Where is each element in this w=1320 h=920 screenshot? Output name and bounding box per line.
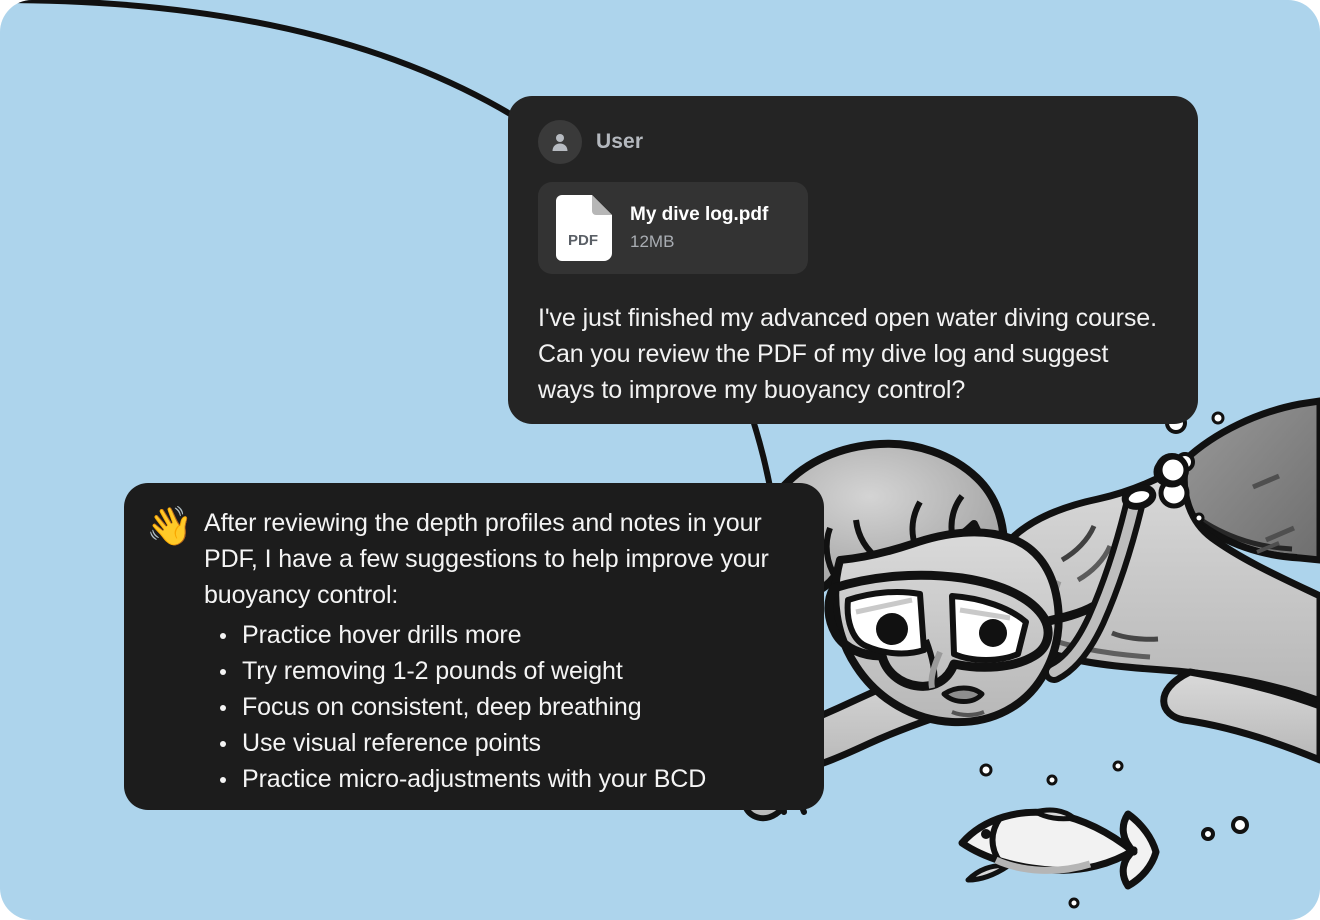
hair-strand-3 [913, 502, 920, 548]
dive-mask [829, 575, 1048, 686]
water-motion-1 [1062, 526, 1094, 560]
user-author-label: User [596, 130, 643, 154]
bubble-snorkel-1 [1159, 459, 1185, 485]
wetsuit-seam [1196, 521, 1297, 557]
assistant-suggestion-list: Practice hover drills moreTry removing 1… [204, 617, 798, 797]
diver-eye-left [876, 613, 908, 645]
chin-line [952, 712, 984, 715]
user-message-text: I've just finished my advanced open wate… [538, 300, 1168, 408]
fish-fin-bottom [968, 866, 1008, 880]
suggestion-item: Use visual reference points [204, 725, 798, 761]
user-header: User [538, 118, 1168, 166]
diver-right-arm [1164, 672, 1320, 760]
assistant-body: 👋 After reviewing the depth profiles and… [146, 505, 798, 797]
bubble-head-1 [1159, 458, 1185, 484]
bubble-near-face-1 [981, 765, 991, 775]
diver-face [835, 532, 1058, 722]
mask-lens-right [952, 596, 1026, 660]
suggestion-item: Try removing 1-2 pounds of weight [204, 653, 798, 689]
collarbone-line [1030, 631, 1150, 657]
pdf-attachment-card[interactable]: PDF My dive log.pdf 12MB [538, 182, 808, 274]
bubble-top [1156, 460, 1180, 484]
bubble-right-low-3 [1070, 899, 1078, 907]
assistant-message-bubble: 👋 After reviewing the depth profiles and… [124, 483, 824, 810]
user-message-bubble: User PDF My dive log.pdf 12MB I've just … [508, 96, 1198, 424]
hair-strand-2 [856, 520, 880, 560]
svg-text:PDF: PDF [568, 232, 598, 249]
bubble-large-3 [1168, 468, 1178, 478]
file-size: 12MB [630, 232, 768, 252]
snorkel-tube-fill [1054, 497, 1136, 672]
armpit-crease [1112, 633, 1158, 639]
file-name: My dive log.pdf [630, 204, 768, 226]
neck-shade [1006, 550, 1060, 586]
bubble-near-face-2 [1048, 776, 1056, 784]
snorkel-opening [1123, 485, 1155, 509]
waving-hand-emoji: 👋 [146, 505, 190, 797]
fish-eye [981, 829, 991, 839]
wetsuit-texture-3 [1257, 543, 1279, 552]
person-avatar-icon [538, 120, 582, 164]
mask-strap [1044, 606, 1094, 622]
diver-mouth [944, 688, 982, 702]
mask-lens-right-glare [960, 610, 1010, 618]
bubble-small-2 [1195, 514, 1203, 522]
water-motion-2 [1078, 546, 1110, 580]
wetsuit-texture-1 [1253, 476, 1279, 487]
bubble-right-low-2 [1233, 818, 1247, 832]
bubble-rise-1 [1160, 457, 1186, 483]
bubble-large-4 [1158, 456, 1186, 484]
bubble-mid-2 [1213, 413, 1223, 423]
fish-head-line [993, 818, 1001, 862]
hair-tuft-1 [986, 526, 1002, 572]
bubble-right-low-1 [1203, 829, 1213, 839]
suggestion-item: Practice hover drills more [204, 617, 798, 653]
assistant-intro-text: After reviewing the depth profiles and n… [204, 505, 798, 613]
hair-strand-4 [951, 496, 962, 534]
page-root: User PDF My dive log.pdf 12MB I've just … [0, 0, 1320, 920]
fish-body [962, 812, 1156, 886]
wetsuit-texture-2 [1266, 528, 1294, 540]
air-bubbles-group [981, 369, 1247, 907]
suggestion-item: Practice micro-adjustments with your BCD [204, 761, 798, 797]
file-meta: My dive log.pdf 12MB [630, 204, 768, 252]
diver-shoulder [990, 462, 1320, 701]
mask-lens-left-glare [856, 600, 912, 612]
nose-shadow [931, 652, 940, 688]
bubble-large-1 [1161, 480, 1187, 506]
mask-lens-left [848, 592, 924, 653]
bubble-medium-1 [1177, 454, 1193, 470]
mask-nose-pocket [926, 640, 935, 686]
suggestion-item: Focus on consistent, deep breathing [204, 689, 798, 725]
snorkel-tube [1054, 497, 1136, 672]
wetsuit-cuff [1190, 512, 1292, 549]
pdf-file-icon: PDF [556, 195, 612, 261]
hair-strand-1 [827, 528, 836, 578]
bubble-near-face-3 [1114, 762, 1122, 770]
fish-group [962, 810, 1156, 886]
fish-belly-shade [996, 860, 1090, 870]
assistant-text-column: After reviewing the depth profiles and n… [204, 505, 798, 797]
fish-fin-top [1036, 810, 1074, 819]
diver-eye-right [979, 619, 1007, 647]
diver-wetsuit [1181, 401, 1320, 560]
